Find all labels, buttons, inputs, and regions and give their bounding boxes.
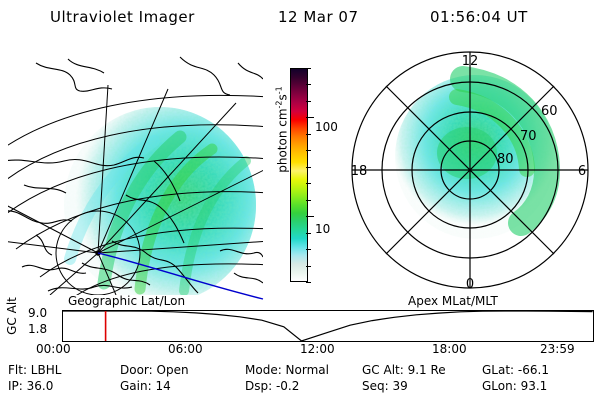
mlt-dial-panel[interactable]: 12 6 0 18 60 70 80 (345, 45, 595, 295)
cbar-title-sup2: -1 (275, 86, 284, 94)
strip-title-apex: Apex MLat/MLT (408, 294, 498, 308)
seq-status: Seq: 39 (362, 379, 408, 393)
mlt-label-6: 6 (578, 164, 586, 179)
colorbar-gradient (291, 69, 307, 281)
instrument-title: Ultraviolet Imager (50, 8, 195, 26)
strip-xtick-1800: 18:00 (432, 342, 467, 356)
status-footer: Flt: LBHL IP: 36.0 Door: Open Gain: 14 M… (0, 363, 600, 397)
strip-ytick-top: 9.0 (28, 306, 47, 320)
gcalt-status: GC Alt: 9.1 Re (362, 363, 446, 377)
strip-plot-box (62, 310, 594, 342)
mlat-label-60: 60 (541, 104, 558, 119)
mlat-label-80: 80 (497, 152, 514, 167)
geographic-map-panel[interactable] (8, 45, 263, 295)
door-status: Door: Open (120, 363, 189, 377)
mlt-label-18: 18 (351, 164, 368, 179)
glat-status: GLat: -66.1 (482, 363, 549, 377)
header-bar: Ultraviolet Imager 12 Mar 07 01:56:04 UT (0, 8, 600, 32)
mlt-dial-svg: 12 6 0 18 60 70 80 (345, 45, 595, 295)
cbar-title-sup1: -2 (275, 100, 284, 108)
mlt-dial-grid (352, 52, 588, 288)
mlt-label-0: 0 (466, 277, 474, 292)
dsp-status: Dsp: -0.2 (245, 379, 299, 393)
mlat-label-70: 70 (520, 129, 537, 144)
strip-title-geographic: Geographic Lat/Lon (68, 294, 185, 308)
gc-alt-strip-chart[interactable]: Geographic Lat/Lon Apex MLat/MLT GC Alt … (0, 296, 600, 358)
aurora-emission-geographic (64, 107, 256, 303)
gc-alt-trace (63, 311, 593, 341)
colorbar-ticks (306, 68, 314, 282)
strip-plot-svg (63, 311, 593, 341)
ip-status: IP: 36.0 (8, 379, 53, 393)
colorbar-label-10: 10 (315, 222, 330, 236)
observation-time: 01:56:04 UT (430, 8, 528, 26)
observation-date: 12 Mar 07 (278, 8, 359, 26)
mlt-label-12: 12 (462, 54, 479, 69)
aurora-emission-mlt (395, 75, 555, 239)
gain-status: Gain: 14 (120, 379, 171, 393)
strip-xtick-0600: 06:00 (168, 342, 203, 356)
cbar-title-main: photon cm (276, 108, 290, 172)
strip-ytick-bottom: 1.8 (28, 322, 47, 336)
colorbar-label-100: 100 (315, 120, 338, 134)
strip-ylabel: GC Alt (5, 293, 19, 339)
colorbar-axis-title: photon cm-2s-1 (275, 70, 290, 190)
filter-status: Flt: LBHL (8, 363, 61, 377)
colorbar[interactable]: 100 10 photon cm-2s-1 (268, 62, 343, 294)
strip-xtick-2359: 23:59 (540, 342, 575, 356)
strip-xtick-1200: 12:00 (300, 342, 335, 356)
glon-status: GLon: 93.1 (482, 379, 547, 393)
mode-status: Mode: Normal (245, 363, 329, 377)
cbar-title-mid: s (276, 94, 290, 100)
strip-xtick-0000: 00:00 (36, 342, 71, 356)
geographic-map-svg (8, 45, 263, 295)
